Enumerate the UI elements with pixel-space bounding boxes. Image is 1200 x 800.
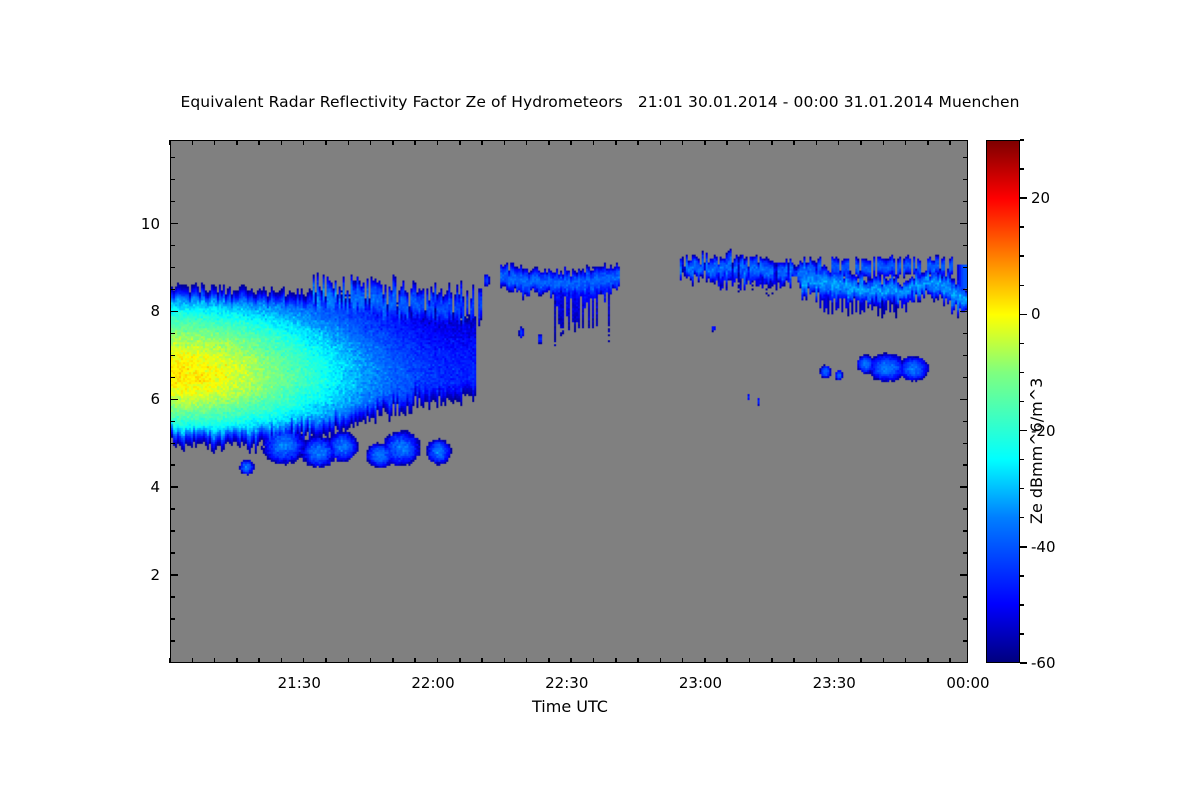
colorbar-tick <box>1020 343 1024 345</box>
x-tick-top <box>927 140 929 145</box>
y-tick <box>170 596 175 598</box>
radar-reflectivity-figure: Equivalent Radar Reflectivity Factor Ze … <box>0 0 1200 800</box>
y-tick <box>170 618 175 620</box>
y-tick-right <box>963 179 968 181</box>
y-tick <box>170 530 175 532</box>
y-tick-right <box>963 596 968 598</box>
plot-area[interactable] <box>170 140 968 663</box>
y-tick <box>170 486 178 488</box>
x-tick-top <box>348 140 350 145</box>
y-tick-right <box>963 289 968 291</box>
y-tick-label: 8 <box>100 302 160 320</box>
x-tick-top <box>370 140 372 145</box>
x-tick-top <box>437 140 439 145</box>
colorbar-tick <box>1020 517 1024 519</box>
x-tick <box>437 658 439 663</box>
x-tick <box>726 658 728 663</box>
x-tick-top <box>816 140 818 145</box>
x-tick <box>459 658 461 663</box>
y-tick <box>170 421 175 423</box>
y-tick-right <box>963 508 968 510</box>
y-tick <box>170 464 175 466</box>
y-tick <box>170 223 178 225</box>
x-tick-top <box>637 140 639 145</box>
y-tick <box>170 640 175 642</box>
y-tick <box>170 201 175 203</box>
x-tick-label: 23:30 <box>789 674 879 692</box>
y-tick-right <box>963 640 968 642</box>
x-tick-top <box>749 140 751 145</box>
x-tick <box>615 658 617 663</box>
y-tick-right <box>963 421 968 423</box>
x-tick <box>281 658 283 663</box>
y-tick-right <box>960 574 968 576</box>
y-tick <box>170 552 175 554</box>
y-tick-right <box>963 201 968 203</box>
x-tick-top <box>682 140 684 145</box>
colorbar-tick <box>1020 139 1024 141</box>
x-tick-top <box>392 140 394 145</box>
y-tick-label: 6 <box>100 390 160 408</box>
y-tick-right <box>963 157 968 159</box>
page-title: Equivalent Radar Reflectivity Factor Ze … <box>0 93 1200 111</box>
x-tick-label: 23:00 <box>656 674 746 692</box>
x-tick <box>526 658 528 663</box>
x-tick <box>949 658 951 663</box>
colorbar[interactable] <box>986 140 1020 663</box>
colorbar-tick <box>1020 662 1027 664</box>
colorbar-tick <box>1020 546 1027 548</box>
colorbar-tick <box>1020 226 1024 228</box>
x-tick <box>504 658 506 663</box>
x-tick <box>370 658 372 663</box>
x-tick <box>749 658 751 663</box>
x-tick-top <box>883 140 885 145</box>
x-tick <box>860 658 862 663</box>
x-tick <box>793 658 795 663</box>
radar-heatmap-canvas <box>171 141 967 662</box>
x-tick-top <box>726 140 728 145</box>
x-tick-top <box>615 140 617 145</box>
x-tick <box>927 658 929 663</box>
y-tick-right <box>963 267 968 269</box>
x-tick-top <box>838 140 840 145</box>
colorbar-gradient <box>986 140 1020 663</box>
x-tick-top <box>169 140 171 145</box>
x-tick <box>905 658 907 663</box>
y-tick-right <box>960 223 968 225</box>
y-tick <box>170 355 175 357</box>
colorbar-tick-label: -60 <box>1031 654 1056 672</box>
x-tick <box>704 658 706 663</box>
y-tick <box>170 289 175 291</box>
x-tick <box>392 658 394 663</box>
x-tick-label: 21:30 <box>254 674 344 692</box>
x-tick <box>771 658 773 663</box>
x-tick <box>192 658 194 663</box>
colorbar-tick-label: -40 <box>1031 538 1056 556</box>
x-tick-top <box>459 140 461 145</box>
y-tick-right <box>960 399 968 401</box>
x-tick-top <box>548 140 550 145</box>
x-tick-top <box>660 140 662 145</box>
x-tick <box>838 658 840 663</box>
colorbar-title: Ze dBmm^6/m^3 <box>1027 378 1046 524</box>
y-tick-right <box>963 618 968 620</box>
y-tick-right <box>960 311 968 313</box>
x-tick <box>593 658 595 663</box>
colorbar-tick <box>1020 168 1024 170</box>
y-tick-label: 2 <box>100 566 160 584</box>
x-tick <box>236 658 238 663</box>
y-tick <box>170 333 175 335</box>
x-tick <box>660 658 662 663</box>
x-tick-top <box>526 140 528 145</box>
x-tick <box>548 658 550 663</box>
x-tick <box>325 658 327 663</box>
y-tick <box>170 179 175 181</box>
x-tick-top <box>771 140 773 145</box>
x-tick-top <box>481 140 483 145</box>
y-tick <box>170 311 178 313</box>
x-tick <box>258 658 260 663</box>
x-axis-title: Time UTC <box>0 697 1140 716</box>
y-tick <box>170 245 175 247</box>
x-tick <box>348 658 350 663</box>
x-tick-top <box>593 140 595 145</box>
y-tick <box>170 377 175 379</box>
x-tick <box>481 658 483 663</box>
x-tick <box>816 658 818 663</box>
y-tick-right <box>963 464 968 466</box>
x-tick <box>570 658 572 663</box>
colorbar-tick <box>1020 459 1024 461</box>
x-tick-top <box>236 140 238 145</box>
x-tick <box>214 658 216 663</box>
y-tick-label: 4 <box>100 478 160 496</box>
x-tick <box>883 658 885 663</box>
y-tick <box>170 508 175 510</box>
x-tick <box>414 658 416 663</box>
x-tick-top <box>793 140 795 145</box>
y-tick-right <box>963 552 968 554</box>
colorbar-tick <box>1020 575 1024 577</box>
y-tick-right <box>963 333 968 335</box>
y-tick <box>170 157 175 159</box>
x-tick-label: 22:00 <box>388 674 478 692</box>
x-tick-top <box>504 140 506 145</box>
x-tick-label: 00:00 <box>923 674 1013 692</box>
colorbar-tick <box>1020 401 1024 403</box>
x-tick-top <box>325 140 327 145</box>
colorbar-tick <box>1020 633 1024 635</box>
colorbar-tick-label: 0 <box>1031 305 1041 323</box>
x-tick-top <box>860 140 862 145</box>
colorbar-tick <box>1020 488 1024 490</box>
y-tick <box>170 267 175 269</box>
x-tick <box>303 658 305 663</box>
x-tick <box>169 658 171 663</box>
y-tick-right <box>963 530 968 532</box>
colorbar-tick <box>1020 372 1024 374</box>
y-tick-right <box>960 486 968 488</box>
y-tick-right <box>963 443 968 445</box>
y-tick <box>170 574 178 576</box>
colorbar-tick <box>1020 197 1027 199</box>
y-tick-right <box>963 245 968 247</box>
y-tick-label: 10 <box>100 215 160 233</box>
x-tick-top <box>303 140 305 145</box>
colorbar-tick <box>1020 255 1024 257</box>
x-tick-top <box>414 140 416 145</box>
x-tick-top <box>214 140 216 145</box>
x-tick <box>682 658 684 663</box>
colorbar-tick <box>1020 314 1027 316</box>
x-tick-top <box>949 140 951 145</box>
colorbar-tick <box>1020 430 1027 432</box>
y-tick-right <box>963 355 968 357</box>
colorbar-tick-label: 20 <box>1031 189 1050 207</box>
x-tick-top <box>281 140 283 145</box>
x-tick-top <box>570 140 572 145</box>
x-tick-top <box>192 140 194 145</box>
x-tick-top <box>258 140 260 145</box>
colorbar-tick <box>1020 285 1024 287</box>
x-tick <box>637 658 639 663</box>
y-tick <box>170 399 178 401</box>
x-tick-top <box>704 140 706 145</box>
colorbar-tick <box>1020 604 1024 606</box>
x-tick-label: 22:30 <box>522 674 612 692</box>
y-tick-right <box>963 377 968 379</box>
x-tick-top <box>905 140 907 145</box>
y-tick <box>170 443 175 445</box>
